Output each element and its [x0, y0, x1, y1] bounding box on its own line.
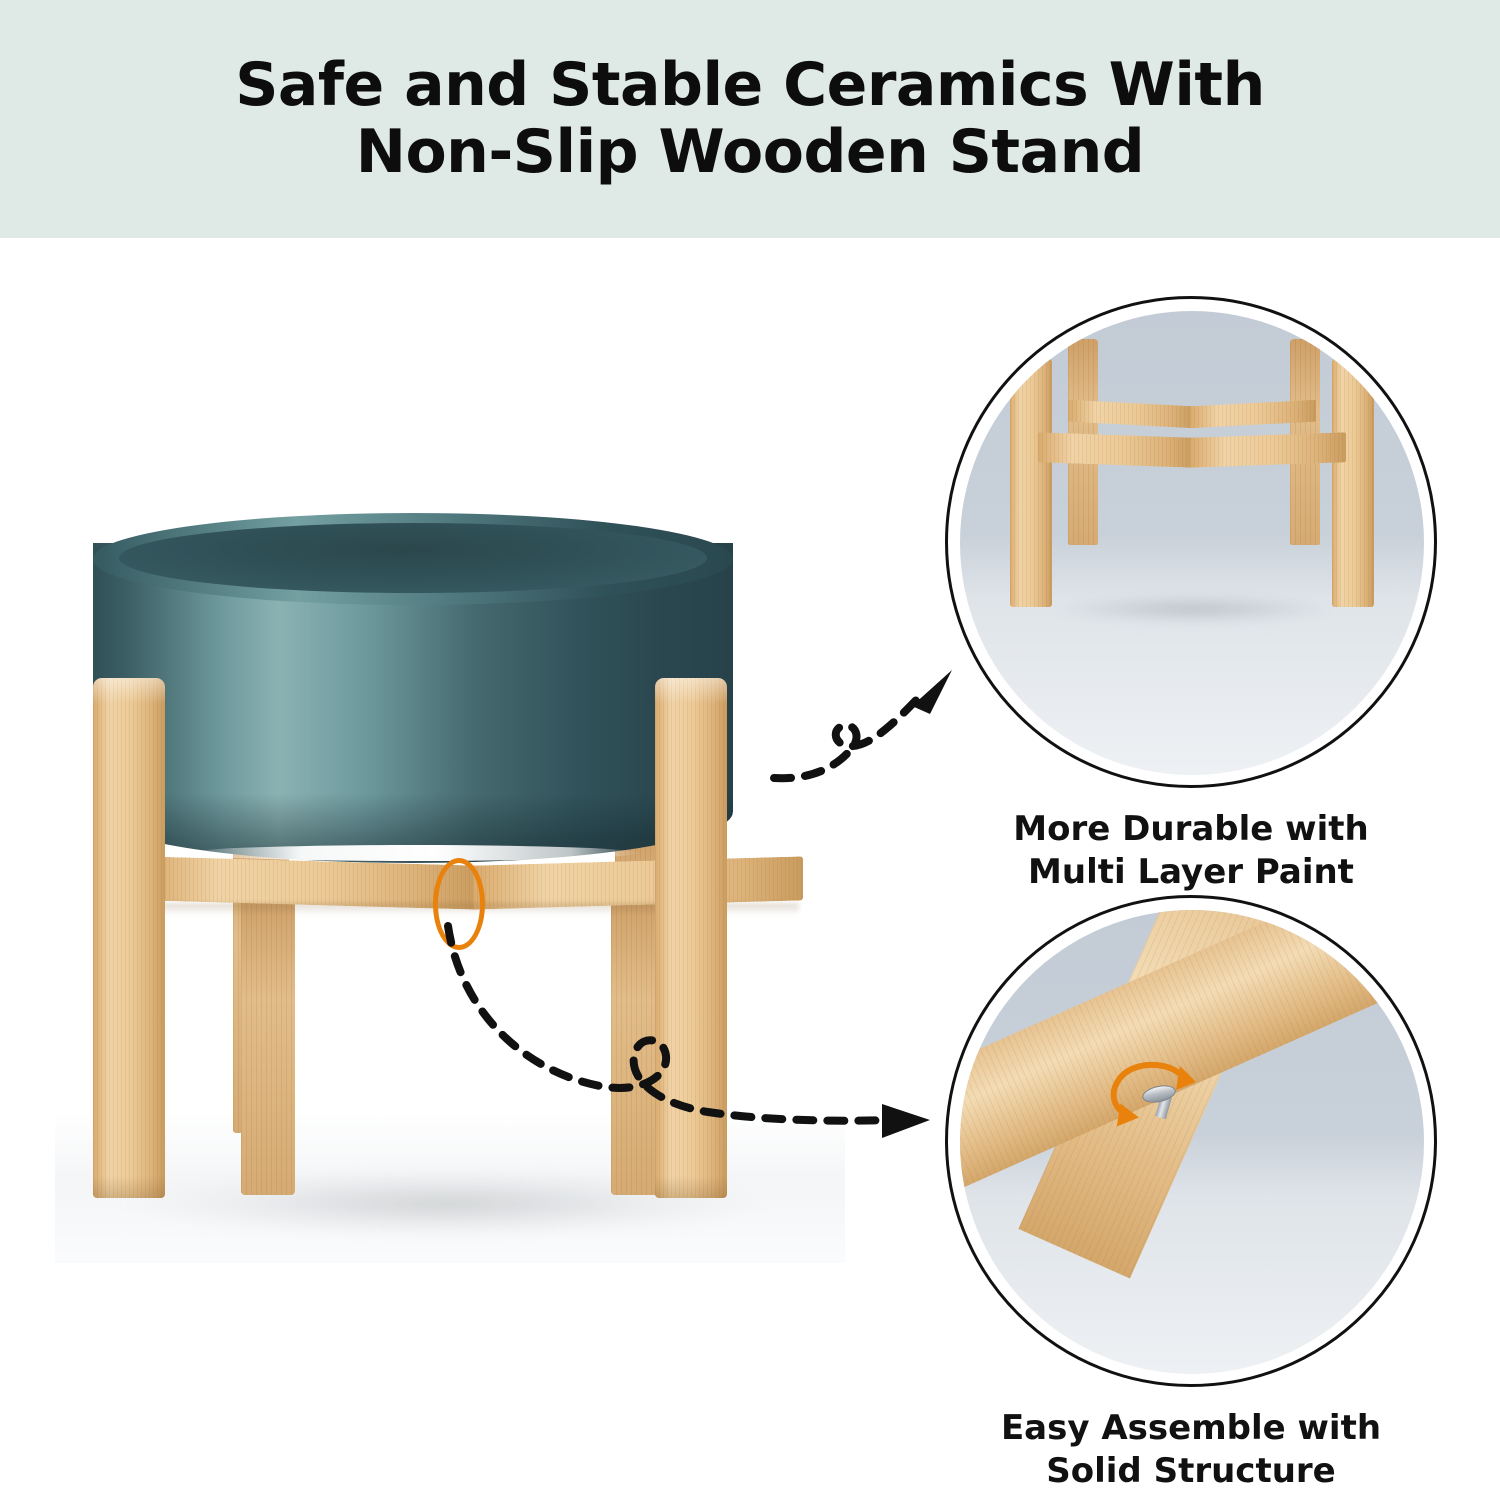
header-banner: Safe and Stable Ceramics With Non-Slip W… — [0, 0, 1500, 238]
callout-stand-front-leg-right — [1332, 357, 1374, 607]
callout-stand-shadow — [1000, 593, 1386, 633]
bowl-interior — [119, 523, 707, 593]
leg-top-cap-right — [655, 678, 727, 704]
rotation-arrow-icon — [1100, 1052, 1210, 1132]
callout-caption-assembly: Easy Assemble with Solid Structure — [921, 1407, 1461, 1493]
callout-circle-durability — [945, 296, 1437, 788]
ceramic-bowl — [93, 513, 733, 863]
callout-stand-rail-front-right — [1190, 432, 1346, 467]
callout-stand-rail-front-left — [1038, 432, 1194, 467]
callout-circle-assembly — [945, 895, 1437, 1387]
bowl-rim — [93, 513, 733, 605]
connector-stand-to-durability — [770, 618, 990, 798]
leg-top-cap-left — [93, 678, 165, 704]
callout-photo-durability — [960, 311, 1424, 775]
connector-joint-to-assembly — [430, 898, 950, 1198]
callout-stand-front-leg-left — [1010, 357, 1052, 607]
callout-photo-assembly — [960, 910, 1424, 1374]
callout-caption-durability: More Durable with Multi Layer Paint — [921, 808, 1461, 894]
page-title: Safe and Stable Ceramics With Non-Slip W… — [0, 52, 1500, 186]
stand-rail-left — [145, 856, 477, 909]
stand-inner-post-left — [241, 895, 295, 1195]
stand-front-leg-left — [93, 678, 165, 1198]
leg-foot-left — [93, 1176, 165, 1198]
product-stage: More Durable with Multi Layer Paint Easy… — [0, 238, 1500, 1464]
